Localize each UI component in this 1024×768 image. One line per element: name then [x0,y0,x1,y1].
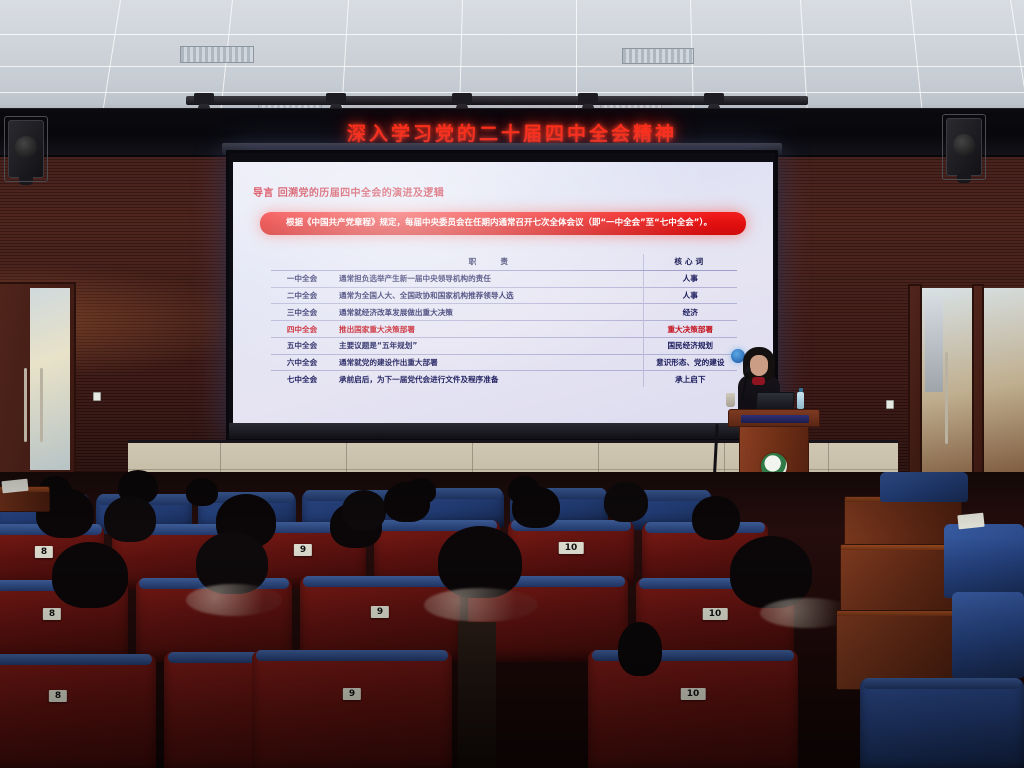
cell-keyword: 意识形态、党的建设 [643,354,737,371]
wall-switch-left[interactable] [93,392,101,401]
cell-session: 四中全会 [271,321,333,338]
seat-number-tag: 10 [703,608,728,620]
laptop [755,392,794,410]
cell-session: 三中全会 [271,304,333,321]
plenum-duties-table: 职 责 核心词 一中全会通常担负选举产生新一届中央领导机构的责任人事二中全会通常… [271,254,737,387]
podium-nameplate [741,415,809,423]
cell-duty: 通常担负选举产生新一届中央领导机构的责任 [333,270,643,287]
seat-number-tag: 9 [294,544,312,556]
auditorium-seating: 8 9 10 8 9 10 [0,472,1024,768]
side-chair-1[interactable] [880,472,968,502]
fur-collar-1 [186,584,282,616]
projection-screen: 导言 回溯党的历届四中全会的演进及逻辑 根据《中国共产党章程》规定，每届中央委员… [233,162,773,430]
seat-number-tag: 8 [49,690,67,702]
wall-switch-right[interactable] [886,400,894,409]
cell-duty: 通常就党的建设作出重大部署 [333,354,643,371]
door-left-glass [30,288,70,470]
cell-keyword: 人事 [643,287,737,304]
cell-keyword: 国民经济规划 [643,337,737,354]
screen-bottom-bar [229,423,775,439]
cell-keyword: 经济 [643,304,737,321]
cell-keyword: 重大决策部署 [643,321,737,338]
seat-number-tag: 9 [343,688,361,700]
cell-keyword: 人事 [643,270,737,287]
cell-duty: 推出国家重大决策部署 [333,321,643,338]
seat-number-tag: 9 [371,606,389,618]
podium-top [728,409,820,427]
seat-number-tag: 10 [681,688,706,700]
audience-head-m5 [342,490,386,530]
audience-head-m7 [512,486,560,528]
slide-title: 导言 回溯党的历届四中全会的演进及逻辑 [253,184,444,199]
presenter-face [750,355,768,376]
cell-session: 六中全会 [271,354,333,371]
header-duty: 职 责 [333,254,643,270]
cell-duty: 通常就经济改革发展做出重大决策 [333,304,643,321]
cell-keyword: 承上启下 [643,371,737,387]
table-body: 一中全会通常担负选举产生新一届中央领导机构的责任人事二中全会通常为全国人大、全国… [271,270,737,387]
cell-session: 七中全会 [271,371,333,387]
speaker-bracket-left [4,116,48,182]
side-chair-2[interactable] [944,524,1024,598]
table-row: 六中全会通常就党的建设作出重大部署意识形态、党的建设 [271,354,737,371]
seat-front-1[interactable]: 8 [0,654,156,768]
cell-session: 一中全会 [271,270,333,287]
door-right-handle[interactable] [945,352,948,444]
slide-title-rest: 回溯党的历届四中全会的演进及逻辑 [278,188,444,199]
seat-number-tag: 8 [43,608,61,620]
side-seat-4[interactable] [860,678,1024,768]
cell-session: 五中全会 [271,337,333,354]
seat-number-tag: 10 [559,542,584,554]
header-session [271,254,333,270]
paper-cup [726,393,735,407]
audience-head-m8 [604,482,648,522]
table-row: 三中全会通常就经济改革发展做出重大决策经济 [271,304,737,321]
projection-screen-frame: 导言 回溯党的历届四中全会的演进及逻辑 根据《中国共产党章程》规定，每届中央委员… [226,150,778,442]
cell-duty: 承前启后，为下一届党代会进行文件及程序准备 [333,371,643,387]
door-right[interactable] [908,284,922,478]
door-left-handle-2[interactable] [40,368,43,442]
table-header-row: 职 责 核心词 [271,254,737,270]
desk-paper [957,513,984,530]
audience-head-n1 [52,542,128,608]
fur-collar-2 [424,588,538,622]
slide-title-lead: 导言 [253,188,274,199]
lecture-hall-photo: 深入学习党的二十届四中全会精神 导言 回溯党的历届四中全会的演进及逻辑 根据《中… [0,0,1024,768]
side-chair-3[interactable] [952,592,1024,678]
table-row: 五中全会主要议题是“五年规划”国民经济规划 [271,337,737,354]
door-right-panel[interactable] [972,284,984,478]
slide-callout-box: 根据《中国共产党章程》规定，每届中央委员会在任期内通常召开七次全体会议（即“一中… [260,212,746,235]
header-keyword: 核心词 [643,254,737,270]
table-head: 职 责 核心词 [271,254,737,270]
cell-session: 二中全会 [271,287,333,304]
audience-head-f3 [186,478,218,506]
door-left-handle[interactable] [24,368,27,442]
center-aisle [458,622,496,768]
audience-head-m2 [104,496,156,542]
seat-number-tag: 8 [35,546,53,558]
water-bottle [797,392,804,409]
seat-front-3[interactable]: 9 [252,650,452,768]
seat-front-4[interactable]: 10 [588,650,798,768]
ceiling-vent-right [622,48,694,64]
audience-head-m6 [384,482,430,522]
table-row: 七中全会承前启后，为下一届党代会进行文件及程序准备承上启下 [271,371,737,387]
table-row: 二中全会通常为全国人大、全国政协和国家机构推荐领导人选人事 [271,287,737,304]
table-row: 一中全会通常担负选举产生新一届中央领导机构的责任人事 [271,270,737,287]
table-row: 四中全会推出国家重大决策部署重大决策部署 [271,321,737,338]
speaker-bracket-right [942,114,986,180]
audience-head-m9 [692,496,740,540]
corridor-window [925,296,943,392]
cell-duty: 主要议题是“五年规划” [333,337,643,354]
presenter-scarf [752,377,765,385]
slide-table: 职 责 核心词 一中全会通常担负选举产生新一届中央领导机构的责任人事二中全会通常… [271,254,737,387]
slide-callout-text: 根据《中国共产党章程》规定，每届中央委员会在任期内通常召开七次全体会议（即“一中… [270,217,736,229]
cell-duty: 通常为全国人大、全国政协和国家机构推荐领导人选 [333,287,643,304]
ceiling-vent-left [180,46,254,63]
led-banner-text: 深入学习党的二十届四中全会精神 [347,119,677,146]
audience-head-aisle [618,622,662,676]
